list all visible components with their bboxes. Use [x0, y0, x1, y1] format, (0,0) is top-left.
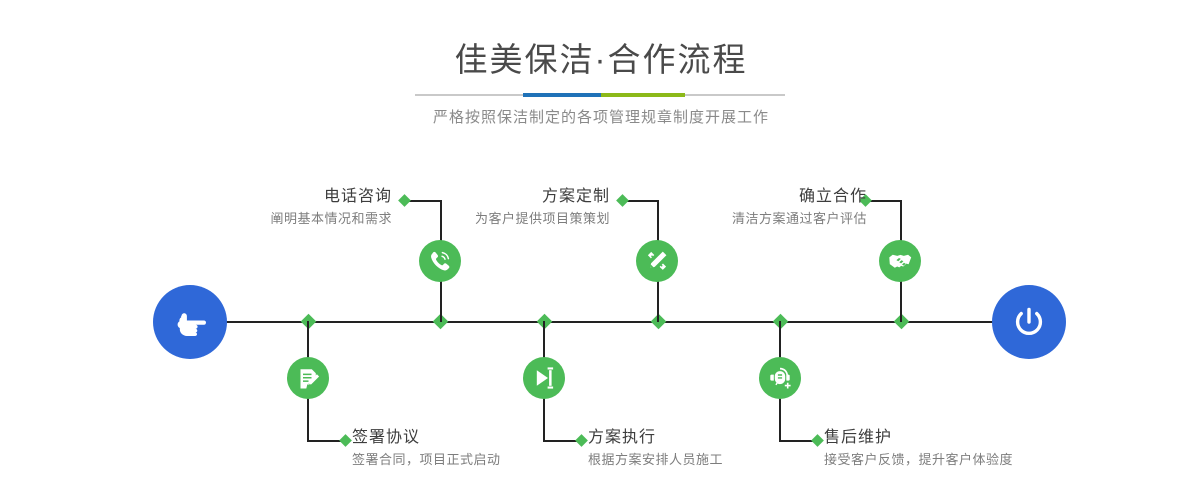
- step-label-2: 签署协议 签署合同，项目正式启动: [352, 427, 501, 470]
- step-desc: 为客户提供项目策策划: [475, 208, 610, 229]
- step-icon-execute[interactable]: [523, 357, 565, 399]
- phone-call-icon: [427, 248, 453, 274]
- label-marker: [398, 194, 411, 207]
- pencil-ruler-icon: [644, 248, 670, 274]
- divider-segment-green: [601, 93, 685, 97]
- pointing-hand-icon: [170, 302, 210, 342]
- divider-segment-blue: [523, 93, 601, 97]
- step-title: 方案执行: [588, 427, 723, 449]
- step-title: 售后维护: [824, 427, 1013, 449]
- document-edit-icon: [295, 365, 321, 391]
- step-desc: 根据方案安排人员施工: [588, 449, 723, 470]
- page-title: 佳美保洁·合作流程: [0, 38, 1202, 82]
- step-icon-phone[interactable]: [419, 240, 461, 282]
- label-marker: [575, 434, 588, 447]
- step-icon-document[interactable]: [287, 357, 329, 399]
- page-subtitle: 严格按照保洁制定的各项管理规章制度开展工作: [0, 106, 1202, 130]
- step-title: 方案定制: [475, 186, 610, 208]
- step-label-4: 方案执行 根据方案安排人员施工: [588, 427, 723, 470]
- power-icon: [1008, 301, 1050, 343]
- label-marker: [811, 434, 824, 447]
- step-desc: 接受客户反馈，提升客户体验度: [824, 449, 1013, 470]
- step-desc: 阐明基本情况和需求: [270, 208, 392, 229]
- process-flow-infographic: 佳美保洁·合作流程 严格按照保洁制定的各项管理规章制度开展工作: [0, 0, 1202, 502]
- label-marker: [339, 434, 352, 447]
- step-label-3: 方案定制 为客户提供项目策策划: [475, 186, 610, 229]
- step-icon-handshake[interactable]: [879, 240, 921, 282]
- step-icon-design[interactable]: [636, 240, 678, 282]
- handshake-icon: [887, 248, 913, 274]
- step-desc: 签署合同，项目正式启动: [352, 449, 501, 470]
- step-label-6: 售后维护 接受客户反馈，提升客户体验度: [824, 427, 1013, 470]
- step-label-1: 电话咨询 阐明基本情况和需求: [270, 186, 392, 229]
- step-title: 电话咨询: [270, 186, 392, 208]
- label-marker: [616, 194, 629, 207]
- step-icon-support[interactable]: [759, 357, 801, 399]
- customer-support-icon: [767, 365, 793, 391]
- play-next-icon: [531, 365, 557, 391]
- step-desc: 清洁方案通过客户评估: [732, 208, 867, 229]
- timeline-end-node[interactable]: [992, 285, 1066, 359]
- title-divider: [415, 94, 785, 96]
- step-title: 签署协议: [352, 427, 501, 449]
- step-label-5: 确立合作 清洁方案通过客户评估: [732, 186, 867, 229]
- timeline-start-node[interactable]: [153, 285, 227, 359]
- step-title: 确立合作: [732, 186, 867, 208]
